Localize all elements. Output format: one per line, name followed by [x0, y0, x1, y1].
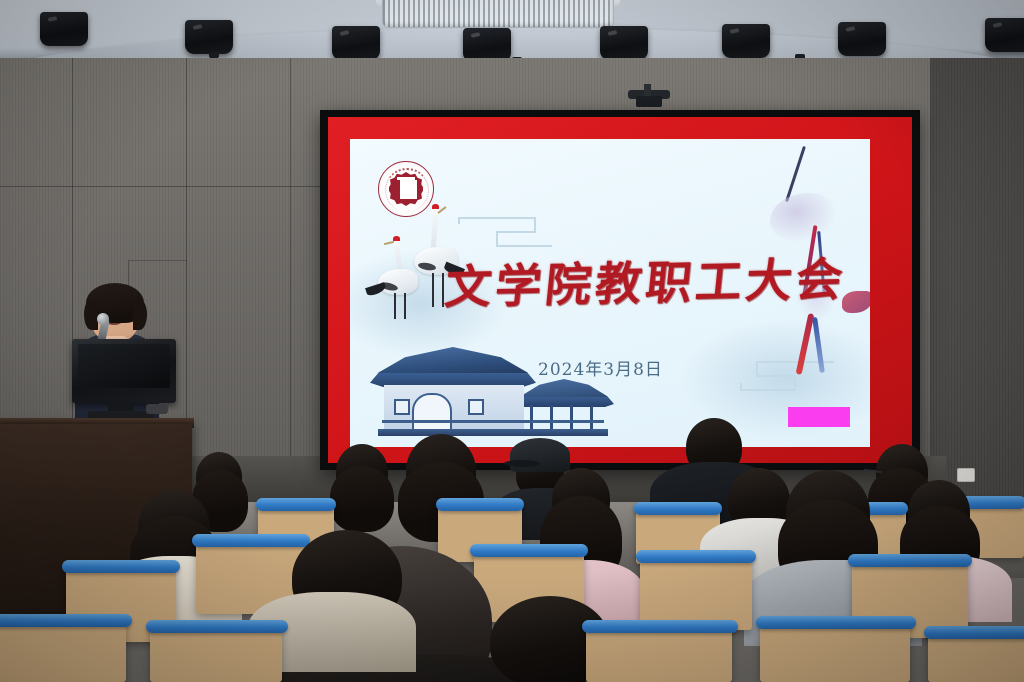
speaker-hair-left: [84, 300, 98, 330]
wall-outlet-icon: [957, 468, 975, 482]
wall-seam: [0, 186, 320, 187]
projection-screen[interactable]: 文学院教职工大会 2024年3月8日: [320, 110, 920, 470]
ceiling-spotlight-icon: [600, 26, 648, 60]
pavilion-main-roof: [378, 347, 528, 377]
wall-seam: [290, 58, 291, 500]
seat-cushion: [924, 626, 1024, 639]
slide-date: 2024年3月8日: [538, 355, 778, 380]
pavilion-base: [378, 429, 608, 436]
pavilion-railing: [382, 420, 604, 423]
podium-desk-item: [146, 404, 168, 414]
ceiling-spotlight-icon: [332, 26, 380, 60]
seat[interactable]: [928, 632, 1024, 682]
seat-cushion: [582, 620, 738, 633]
audience-shoulders: [248, 592, 416, 672]
speaker-podium: [0, 424, 192, 624]
microphone-head: [97, 313, 109, 325]
slide-title: 文学院教职工大会: [442, 243, 870, 318]
air-vent-grille-icon: [382, 0, 614, 28]
ceiling-spotlight-icon: [40, 12, 88, 46]
pink-highlight-box: [788, 407, 850, 427]
conference-hall-photo: 文学院教职工大会 2024年3月8日: [0, 0, 1024, 682]
seal-glyph: [400, 180, 412, 199]
podium-monitor[interactable]: [72, 339, 176, 403]
pavilion-illustration: [360, 335, 600, 445]
university-seal-icon: [378, 161, 434, 217]
seat[interactable]: [586, 626, 732, 682]
audience-member-front-row-center: [490, 596, 610, 682]
seat[interactable]: [150, 626, 282, 682]
projector-icon: [636, 96, 662, 107]
ceiling-spotlight-icon: [722, 24, 770, 58]
pavilion-side-eave: [514, 397, 614, 407]
ceiling-spotlight-icon: [985, 18, 1024, 52]
seat[interactable]: [0, 620, 126, 682]
seat-cushion: [756, 616, 916, 629]
ceiling-spotlight-icon: [185, 20, 233, 54]
audience-shoulders: [258, 654, 558, 682]
seat[interactable]: [760, 622, 910, 682]
ceiling-spotlight-icon: [838, 22, 886, 56]
slide-red-border: 文学院教职工大会 2024年3月8日: [328, 117, 912, 463]
presentation-slide: 文学院教职工大会 2024年3月8日: [350, 139, 870, 447]
ceiling-spotlight-icon: [463, 28, 511, 62]
pavilion-window: [468, 399, 484, 415]
pavilion-window: [394, 399, 410, 415]
